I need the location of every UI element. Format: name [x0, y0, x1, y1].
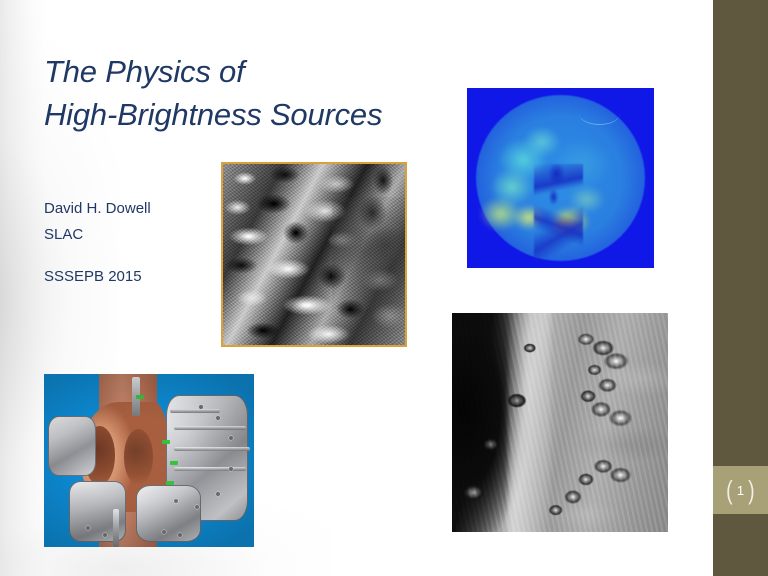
slide-title-line-1: The Physics of: [44, 50, 464, 93]
beam-screen-edge-arc: [579, 102, 620, 125]
beam-false-color-image: [467, 88, 654, 268]
rf-gun-cad-image: [44, 374, 254, 547]
bracket-right-icon: ): [748, 477, 755, 503]
cad-vignette: [44, 374, 254, 547]
page-number: 1: [737, 483, 744, 498]
sem-rough-cathode-image: [221, 162, 407, 347]
sem-rough-grain: [223, 164, 405, 345]
presentation-slide: The Physics of High-Brightness Sources D…: [0, 0, 768, 576]
slide-title-line-2: High-Brightness Sources: [44, 93, 464, 136]
slide-title: The Physics of High-Brightness Sources: [44, 50, 464, 136]
sidebar-rotated-text: The Physics of High Brightness Sources D…: [713, 0, 768, 460]
sidebar-author: D. H. Dowell: [744, 0, 756, 12]
bracket-left-icon: (: [726, 477, 733, 503]
sidebar-deck-title: The Physics of High Brightness Sources: [729, 0, 741, 12]
page-number-group: ( 1 ): [713, 466, 768, 514]
sem-melt-flow-texture: [452, 313, 668, 532]
sem-melted-cathode-image: [452, 313, 668, 532]
beam-dark-filament: [534, 164, 583, 261]
